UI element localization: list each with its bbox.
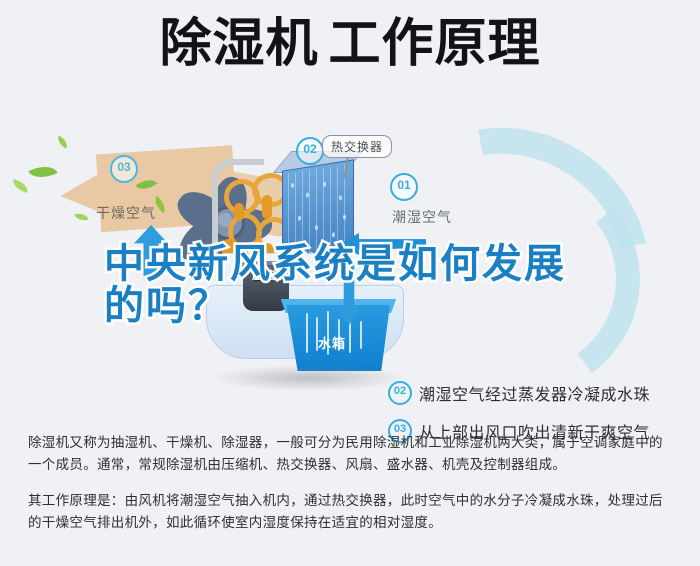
callout-badge-03: 03 (110, 155, 138, 183)
poster-root: 除湿机工作原理 (0, 0, 700, 566)
legend-label: 潮湿空气经过蒸发器冷凝成水珠 (419, 381, 650, 405)
heat-exchanger-callout-bubble: 热交换器 (322, 135, 392, 158)
body-paragraph-2: 其工作原理是：由风机将潮湿空气抽入机内，通过热交换器，此时空气中的水分子冷凝成水… (28, 490, 676, 534)
overlay-headline: 中央新风系统是如何发展 的吗？ (104, 243, 624, 328)
page-title: 除湿机工作原理 (0, 18, 700, 70)
article-body: 除湿机又称为抽湿机、干燥机、除湿器，一般可分为民用除湿机和工业除湿机两大类，属于… (28, 418, 676, 546)
machine-shadow (214, 365, 404, 391)
body-paragraph-1: 除湿机又称为抽湿机、干燥机、除湿器，一般可分为民用除湿机和工业除湿机两大类，属于… (28, 432, 676, 476)
dry-air-label: 干燥空气 (96, 203, 156, 223)
moist-air-label: 潮湿空气 (392, 207, 452, 227)
overlay-headline-line1: 中央新风系统是如何发展 (104, 243, 624, 285)
callout-badge-02: 02 (296, 137, 324, 165)
leaf-icon (55, 135, 70, 148)
overlay-headline-line2: 的吗？ (104, 285, 624, 327)
page-title-part2: 工作原理 (329, 15, 541, 73)
page-title-part1: 除湿机 (159, 15, 318, 73)
callout-badge-01: 01 (390, 173, 418, 201)
legend-badge: 02 (388, 381, 412, 405)
legend-item: 02 潮湿空气经过蒸发器冷凝成水珠 (388, 381, 688, 405)
leaf-icon (28, 160, 57, 184)
leaf-icon (11, 179, 30, 193)
leaf-icon (74, 212, 88, 222)
